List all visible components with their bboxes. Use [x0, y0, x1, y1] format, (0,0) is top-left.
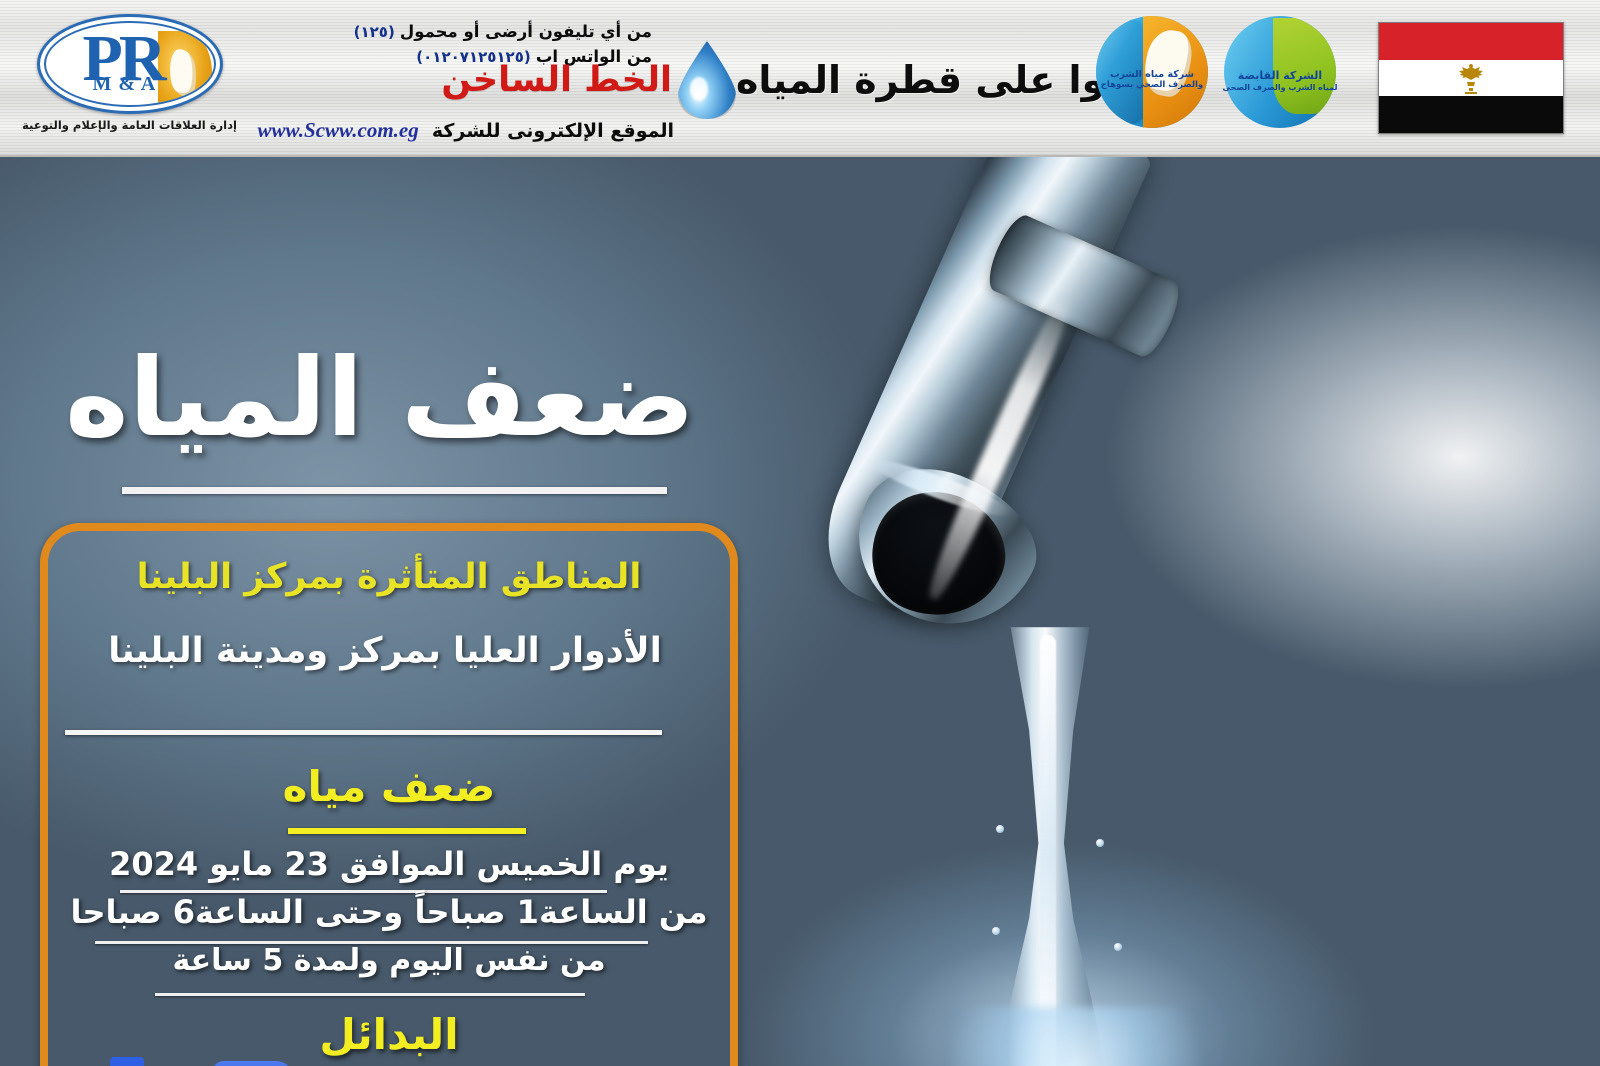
water-droplet-icon	[678, 41, 736, 119]
schedule-time-line: من الساعة1 صباحاً وحتى الساعة6 صباحا	[40, 893, 738, 931]
water-stream-highlight	[1040, 635, 1056, 1066]
water-tanker-truck-icon: WATER	[52, 1045, 304, 1066]
green-leaf-shape-icon	[1273, 18, 1336, 114]
water-droplet-speck	[1096, 839, 1104, 847]
poster-main-area: ضعف المياه المناطق المتأثرة بمركز البلين…	[0, 157, 1600, 1066]
pr-logo-inner: PR M & A	[44, 21, 216, 107]
pr-department-logo: PR M & A إدارة العلاقات العامة والإعلام …	[22, 14, 237, 132]
water-droplet-speck	[1114, 943, 1122, 951]
sohag-water-company-logo: شركة مياه الشرب والصرف الصحي بسوهاج	[1090, 16, 1214, 134]
hotline-line1-number: (١٢٥)	[354, 23, 395, 41]
water-splash-glow	[940, 1007, 1210, 1066]
holding-logo-disc	[1224, 16, 1336, 128]
water-stream-image	[900, 627, 1240, 1066]
conservation-slogan-block: حافظوا على قطرة المياه	[672, 26, 1072, 134]
issue-title: ضعف مياه	[40, 765, 738, 809]
company-logos-block: شركة مياه الشرب والصرف الصحي بسوهاج الشر…	[1090, 16, 1360, 144]
hotline-line1-text: من أي تليفون أرضى أو محمول	[400, 22, 652, 41]
section-divider	[65, 730, 662, 735]
faucet-spout-image	[840, 157, 1460, 677]
affected-areas-detail: الأدوار العليا بمركز ومدينة البلينا	[30, 631, 740, 671]
flag-band-black	[1379, 96, 1563, 133]
hotline-line-1: من أي تليفون أرضى أو محمول (١٢٥)	[236, 22, 666, 41]
water-droplet-speck	[992, 927, 1000, 935]
schedule-divider-3	[155, 993, 585, 996]
holding-company-logo: الشركة القابضة لمياه الشرب والصرف الصحى	[1218, 16, 1342, 134]
hotline-label: الخط الساخن	[441, 60, 672, 100]
pr-department-caption: إدارة العلاقات العامة والإعلام والتوعية	[22, 118, 237, 132]
sohag-logo-disc	[1096, 16, 1208, 128]
pr-logo-subletters: M & A	[92, 73, 156, 96]
pr-logo-oval: PR M & A	[37, 14, 223, 114]
website-url[interactable]: www.Scww.com.eg	[258, 118, 419, 142]
header-bar: PR M & A إدارة العلاقات العامة والإعلام …	[0, 0, 1600, 157]
truck-cab	[212, 1061, 294, 1066]
issue-title-underline	[288, 828, 526, 834]
water-droplet-speck	[996, 825, 1004, 833]
title-divider	[122, 487, 667, 494]
affected-areas-heading: المناطق المتأثرة بمركز البلينا	[40, 557, 738, 597]
hotline-info-block: من أي تليفون أرضى أو محمول (١٢٥) من الوا…	[236, 12, 666, 147]
truck-tank-hatch	[110, 1057, 144, 1066]
flag-band-white	[1379, 60, 1563, 97]
flag-band-red	[1379, 23, 1563, 60]
water-outage-announcement-poster: PR M & A إدارة العلاقات العامة والإعلام …	[0, 0, 1600, 1066]
page-title: ضعف المياه	[50, 342, 710, 455]
eagle-of-saladin-icon	[1456, 62, 1486, 94]
schedule-date-line: يوم الخميس الموافق 23 مايو 2024	[40, 845, 738, 883]
website-label: الموقع الإلكترونى للشركة	[432, 120, 674, 142]
website-row[interactable]: الموقع الإلكترونى للشركة www.Scww.com.eg	[258, 118, 674, 143]
egypt-flag-icon	[1378, 22, 1564, 134]
schedule-duration-line: من نفس اليوم ولمدة 5 ساعة	[40, 943, 738, 978]
